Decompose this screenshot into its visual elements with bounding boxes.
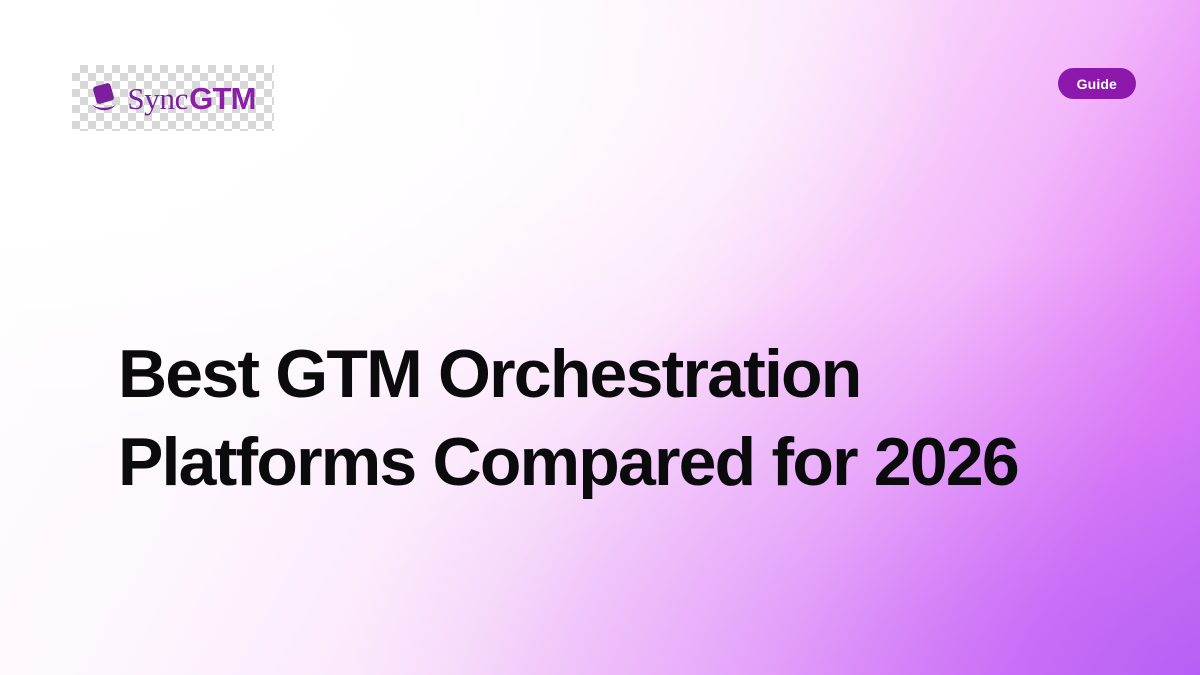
headline-line-1: Best GTM Orchestration: [118, 330, 1118, 418]
guide-badge[interactable]: Guide: [1058, 68, 1136, 99]
logo-word-sync: Sync: [127, 83, 188, 114]
logo-lockup[interactable]: Sync GTM: [72, 65, 274, 131]
logo-wordmark: Sync GTM: [127, 83, 255, 114]
syncgtm-diamond-mark-icon: [90, 81, 120, 115]
headline-line-2: Platforms Compared for 2026: [118, 418, 1118, 506]
hero-banner: Sync GTM Guide Best GTM Orchestration Pl…: [0, 0, 1200, 675]
logo-inner: Sync GTM: [90, 81, 255, 115]
logo-word-gtm: GTM: [189, 83, 255, 114]
page-title: Best GTM Orchestration Platforms Compare…: [118, 330, 1118, 506]
